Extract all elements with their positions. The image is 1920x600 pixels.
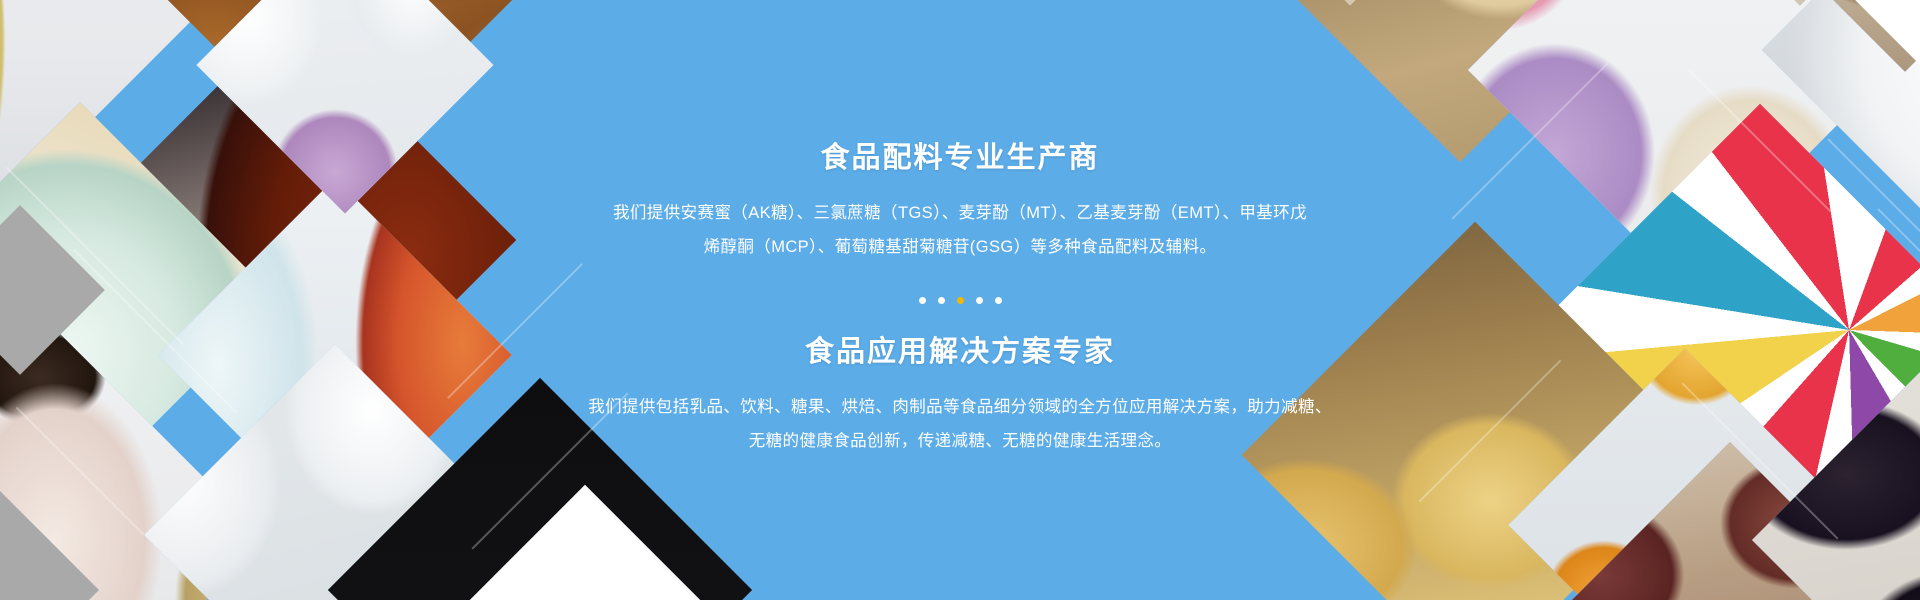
dot-divider [919, 295, 1002, 305]
divider-dot-3-accent [957, 297, 964, 304]
headline-manufacturer: 食品配料专业生产商 [520, 141, 1400, 176]
paragraph-manufacturer-line-1: 我们提供安赛蜜（AK糖）、三氯蔗糖（TGS）、麦芽酚（MT）、乙基麦芽酚（EMT… [540, 196, 1380, 231]
divider-dot-4 [976, 297, 983, 304]
section-manufacturer: 食品配料专业生产商 我们提供安赛蜜（AK糖）、三氯蔗糖（TGS）、麦芽酚（MT）… [520, 141, 1400, 265]
divider-dot-5 [995, 297, 1002, 304]
hero-banner: 食品配料专业生产商 我们提供安赛蜜（AK糖）、三氯蔗糖（TGS）、麦芽酚（MT）… [0, 0, 1920, 600]
divider-dot-1 [919, 297, 926, 304]
headline-solutions: 食品应用解决方案专家 [520, 335, 1400, 370]
paragraph-solutions: 我们提供包括乳品、饮料、糖果、烘焙、肉制品等食品细分领域的全方位应用解决方案，助… [540, 390, 1380, 459]
paragraph-solutions-line-1: 我们提供包括乳品、饮料、糖果、烘焙、肉制品等食品细分领域的全方位应用解决方案，助… [540, 390, 1380, 425]
paragraph-solutions-line-2: 无糖的健康食品创新，传递减糖、无糖的健康生活理念。 [540, 424, 1380, 459]
divider-dot-2 [938, 297, 945, 304]
paragraph-manufacturer-line-2: 烯醇酮（MCP）、葡萄糖基甜菊糖苷(GSG）等多种食品配料及辅料。 [540, 230, 1380, 265]
section-solutions: 食品应用解决方案专家 我们提供包括乳品、饮料、糖果、烘焙、肉制品等食品细分领域的… [520, 335, 1400, 459]
paragraph-manufacturer: 我们提供安赛蜜（AK糖）、三氯蔗糖（TGS）、麦芽酚（MT）、乙基麦芽酚（EMT… [540, 196, 1380, 265]
banner-content: 食品配料专业生产商 我们提供安赛蜜（AK糖）、三氯蔗糖（TGS）、麦芽酚（MT）… [520, 0, 1400, 600]
